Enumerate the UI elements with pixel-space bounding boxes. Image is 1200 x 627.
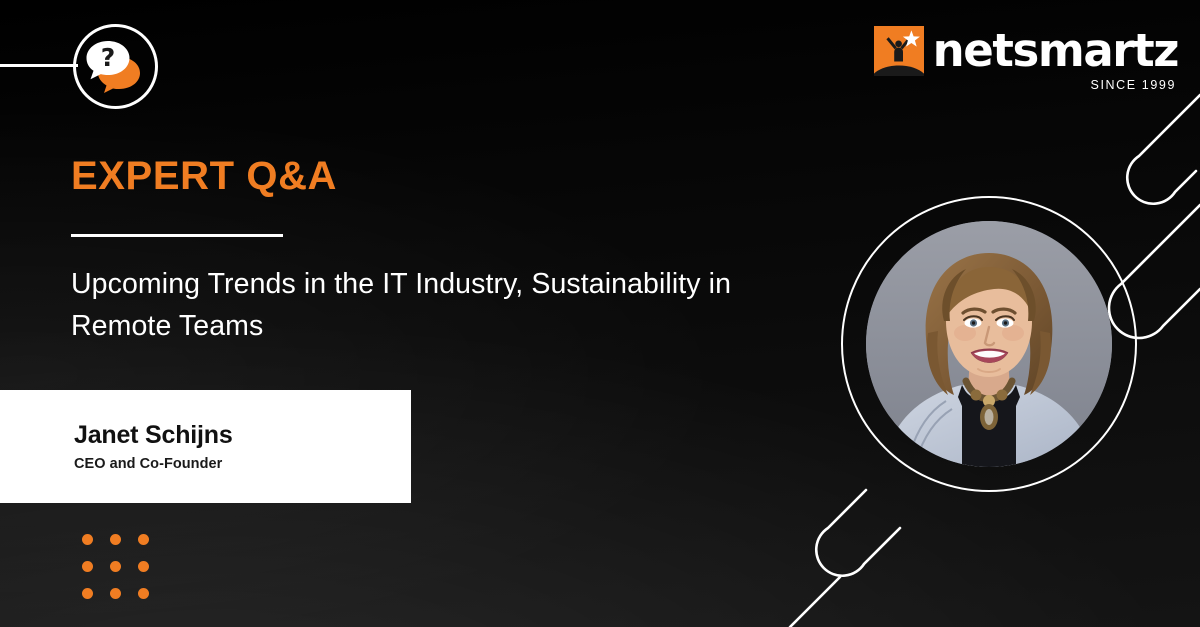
logo-row: netsmartz — [874, 26, 1178, 76]
grid-dot — [110, 588, 121, 599]
badge-lead-line — [0, 64, 78, 67]
speaker-role: CEO and Co-Founder — [74, 456, 411, 472]
netsmartz-wordmark: netsmartz — [933, 32, 1178, 71]
grid-dot — [138, 561, 149, 572]
speaker-photo — [866, 221, 1112, 467]
question-badge: ? — [73, 24, 158, 109]
grid-dot — [138, 588, 149, 599]
headline-text: Upcoming Trends in the IT Industry, Sust… — [71, 264, 801, 348]
grid-dot — [110, 561, 121, 572]
headline-divider-rule — [71, 234, 283, 237]
promo-card-canvas: ? netsmartz SINCE 1999 — [0, 0, 1200, 627]
speaker-portrait — [841, 196, 1137, 492]
eyebrow-expert-qa: EXPERT Q&A — [71, 156, 337, 196]
squiggle-bottom-a — [816, 490, 900, 576]
squiggle-top-right-a — [1127, 95, 1200, 204]
grid-dot — [138, 534, 149, 545]
question-badge-ring — [73, 24, 158, 109]
grid-dot — [82, 588, 93, 599]
grid-dot — [82, 561, 93, 572]
squiggle-bottom-b — [790, 577, 840, 627]
speaker-name-card: Janet Schijns CEO and Co-Founder — [0, 390, 411, 503]
orange-dot-grid — [82, 534, 166, 615]
grid-dot — [110, 534, 121, 545]
netsmartz-logo[interactable]: netsmartz SINCE 1999 — [874, 26, 1178, 92]
netsmartz-person-star-logo-icon — [874, 26, 924, 76]
netsmartz-tagline: SINCE 1999 — [1091, 78, 1176, 92]
grid-dot — [82, 534, 93, 545]
speaker-name: Janet Schijns — [74, 421, 411, 450]
